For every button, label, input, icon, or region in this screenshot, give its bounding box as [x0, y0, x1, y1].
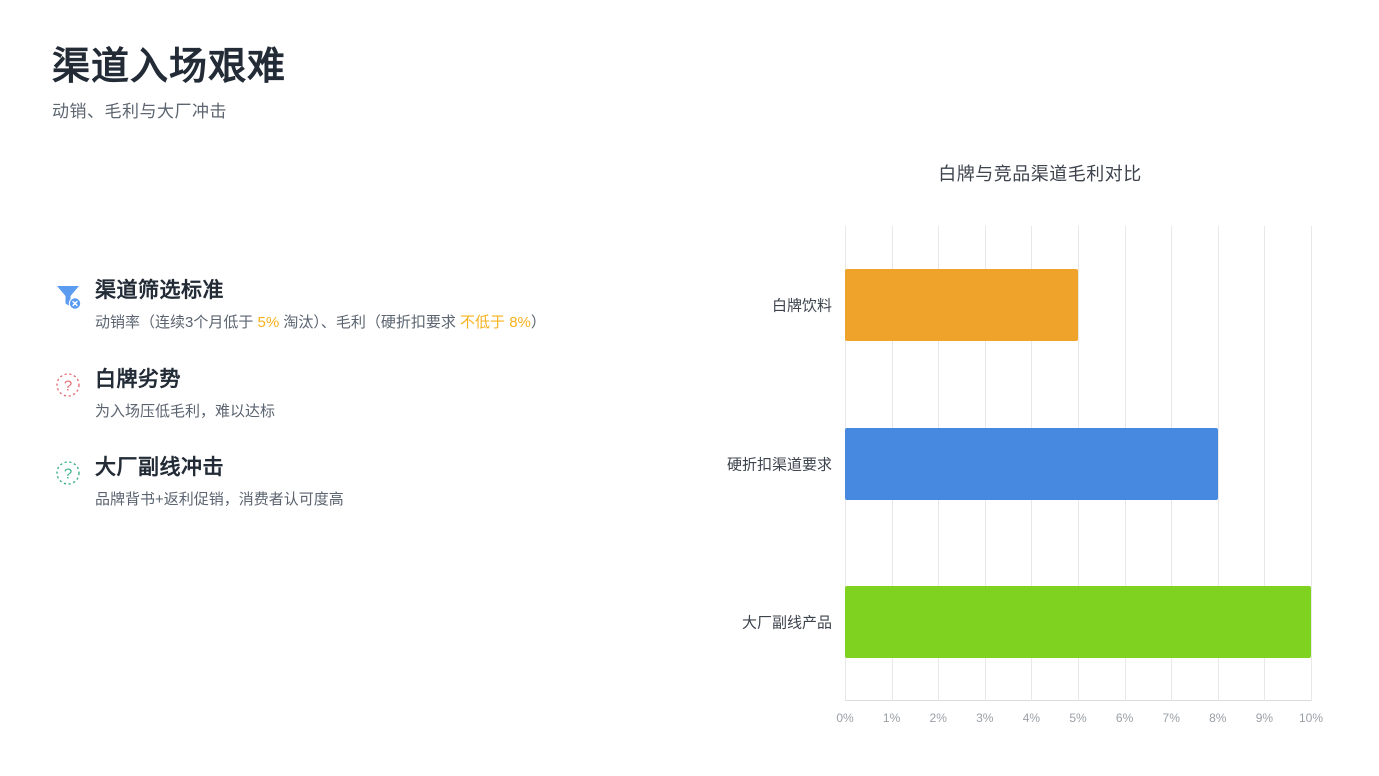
highlight-5-percent: 5%	[258, 314, 280, 331]
point-body: 动销率（连续3个月低于 5% 淘汰）、毛利（硬折扣要求 不低于 8%）	[95, 310, 650, 336]
filter-remove-icon	[52, 280, 84, 312]
question-circle-dashed-icon: ?	[52, 369, 84, 401]
body-text-segment: 淘汰）、毛利（硬折扣要求	[279, 314, 460, 331]
chart-category-label: 硬折扣渠道要求	[727, 453, 832, 474]
chart-title: 白牌与竞品渠道毛利对比	[690, 160, 1350, 186]
svg-text:?: ?	[64, 377, 72, 394]
chart-x-tick-label: 3%	[976, 711, 993, 725]
question-circle-dashed-icon: ?	[52, 457, 84, 489]
chart-x-tick-label: 1%	[883, 711, 900, 725]
gross-margin-bar-chart: 白牌与竞品渠道毛利对比 白牌饮料硬折扣渠道要求大厂副线产品 0%1%2%3%4%…	[690, 160, 1350, 730]
chart-x-tick-label: 9%	[1256, 711, 1273, 725]
chart-x-tick-label: 0%	[836, 711, 853, 725]
chart-x-tick-labels: 0%1%2%3%4%5%6%7%8%9%10%	[845, 711, 1311, 731]
chart-x-tick-label: 5%	[1069, 711, 1086, 725]
point-title: 大厂副线冲击	[95, 455, 652, 481]
chart-gridline	[1311, 226, 1312, 701]
chart-x-tick-label: 4%	[1023, 711, 1040, 725]
point-body: 品牌背书+返利促销，消费者认可度高	[95, 487, 650, 513]
body-text-segment: ）	[531, 314, 546, 331]
chart-bar	[845, 586, 1311, 658]
point-title: 白牌劣势	[95, 367, 652, 393]
chart-x-tick-label: 2%	[930, 711, 947, 725]
slide: 渠道入场艰难 动销、毛利与大厂冲击 渠道筛选标准 动销率（连续3个月低于 5% …	[0, 0, 1379, 776]
chart-x-tick-label: 10%	[1299, 711, 1323, 725]
page-title: 渠道入场艰难	[52, 46, 752, 90]
chart-x-tick-label: 8%	[1209, 711, 1226, 725]
point-title: 渠道筛选标准	[95, 278, 652, 304]
chart-bars-region	[845, 226, 1311, 701]
chart-category-labels: 白牌饮料硬折扣渠道要求大厂副线产品	[690, 226, 845, 701]
chart-x-tick-label: 6%	[1116, 711, 1133, 725]
highlight-8-percent: 不低于 8%	[460, 314, 531, 331]
chart-x-tick-label: 7%	[1163, 711, 1180, 725]
chart-bar	[845, 269, 1078, 341]
chart-category-label: 白牌饮料	[772, 295, 832, 316]
page-subtitle: 动销、毛利与大厂冲击	[52, 97, 752, 122]
chart-bar	[845, 428, 1218, 500]
list-item: 渠道筛选标准 动销率（连续3个月低于 5% 淘汰）、毛利（硬折扣要求 不低于 8…	[52, 278, 652, 337]
chart-category-label: 大厂副线产品	[742, 611, 832, 632]
svg-text:?: ?	[64, 466, 72, 483]
point-body: 为入场压低毛利，难以达标	[95, 399, 650, 425]
key-points-list: 渠道筛选标准 动销率（连续3个月低于 5% 淘汰）、毛利（硬折扣要求 不低于 8…	[52, 278, 652, 544]
body-text-segment: 动销率（连续3个月低于	[95, 314, 258, 331]
chart-plot-area: 白牌饮料硬折扣渠道要求大厂副线产品 0%1%2%3%4%5%6%7%8%9%10…	[690, 226, 1350, 706]
list-item: ? 大厂副线冲击 品牌背书+返利促销，消费者认可度高	[52, 455, 652, 514]
slide-header: 渠道入场艰难 动销、毛利与大厂冲击	[52, 46, 752, 122]
list-item: ? 白牌劣势 为入场压低毛利，难以达标	[52, 367, 652, 426]
